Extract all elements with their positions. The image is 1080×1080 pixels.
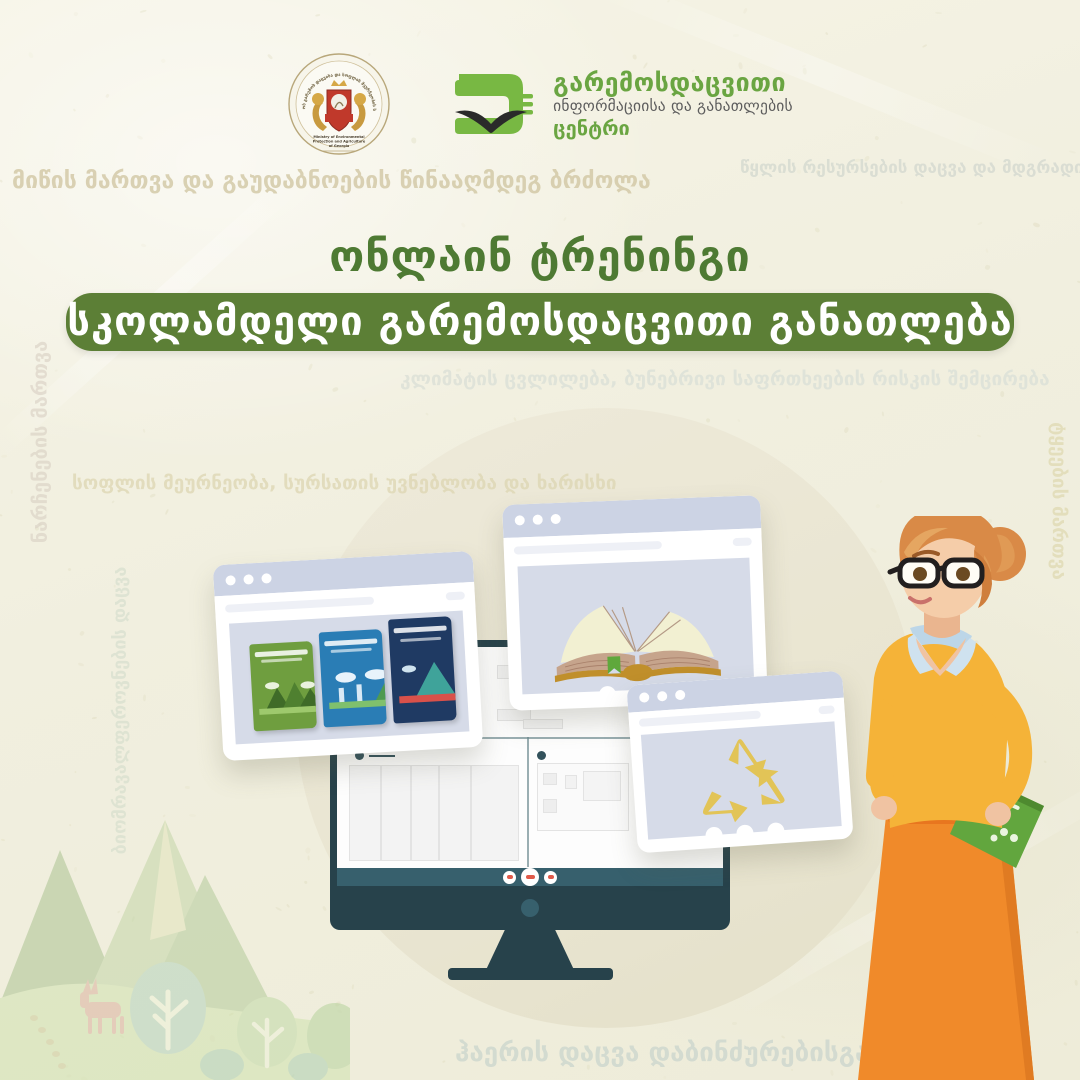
poster-canvas: საქართველოს გარემოს დაცვისა და სოფლის მე… [0,0,1080,1080]
watermark-left-vertical-outer: ნარჩენების მართვა [27,341,51,544]
watermark-bottom-center: ჰაერის დაცვა დაბინძურებისგან [455,1038,884,1068]
page-title: სკოლამდელი გარემოსდაცვითი განათლება [67,299,1013,345]
book-cover-navy[interactable] [388,616,457,724]
minimize-dot-icon[interactable] [243,574,254,585]
close-dot-icon[interactable] [639,693,650,704]
watermark-top-left: მიწის მართვა და გაუდაბნოების წინააღმდეგ … [12,168,651,194]
close-dot-icon[interactable] [515,516,525,526]
watermark-top-right: წყლის რესურსების დაცვა და მდგრადი მართვა [740,158,1080,178]
maximize-dot-icon[interactable] [551,514,561,524]
minimize-dot-icon[interactable] [533,515,543,525]
open-book-viewport [517,557,754,694]
watermark-mid-center: კლიმატის ცვლილება, ბუნებრივი საფრთხეების… [400,368,1050,390]
logo-mark-book-icon [445,56,541,152]
center-logo-line2: ინფორმაციისა და განათლების [553,99,793,115]
center-logo-line1: გარემოსდაცვითი [553,70,793,95]
center-logo: გარემოსდაცვითი ინფორმაციისა და განათლები… [445,56,793,152]
browser-window-books[interactable] [213,551,484,761]
minimize-dot-icon[interactable] [657,691,668,702]
header-logos: საქართველოს გარემოს დაცვისა და სოფლის მე… [0,52,1080,156]
left-hand [871,796,897,820]
recycling-icon [641,722,842,839]
maximize-dot-icon[interactable] [675,690,686,701]
gov-seal-line1: Ministry of Environmental [314,135,365,139]
book-cover-green[interactable] [249,641,317,732]
woman-teacher-holding-book [848,516,1080,1080]
maximize-dot-icon[interactable] [261,573,272,584]
open-book-icon [517,557,754,694]
gov-seal-line3: of Georgia [329,144,350,148]
page-eyebrow-title: ონლაინ ტრენინგი [0,232,1080,282]
right-hand [985,802,1011,826]
gov-seal-line2: Protection and Agriculture [313,140,366,144]
monitor-chin [330,886,730,930]
recycling-viewport [641,722,842,839]
mute-button[interactable] [503,871,516,884]
headline-banner: სკოლამდელი გარემოსდაცვითი განათლება [66,293,1014,351]
video-button[interactable] [544,871,557,884]
end-call-button[interactable] [521,868,539,886]
gov-seal: საქართველოს გარემოს დაცვისა და სოფლის მე… [287,52,391,156]
video-call-toolbar[interactable] [337,868,723,886]
center-logo-text: გარემოსდაცვითი ინფორმაციისა და განათლები… [553,70,793,138]
center-logo-line3: ცენტრი [553,118,793,138]
monitor-stand-neck [485,930,575,972]
book-cover-blue[interactable] [319,629,387,727]
close-dot-icon[interactable] [225,575,236,586]
books-viewport [229,610,469,744]
forest-mountain-illustration [0,780,350,1080]
browser-window-recycling[interactable] [626,671,853,854]
monitor-stand-foot [448,968,613,980]
